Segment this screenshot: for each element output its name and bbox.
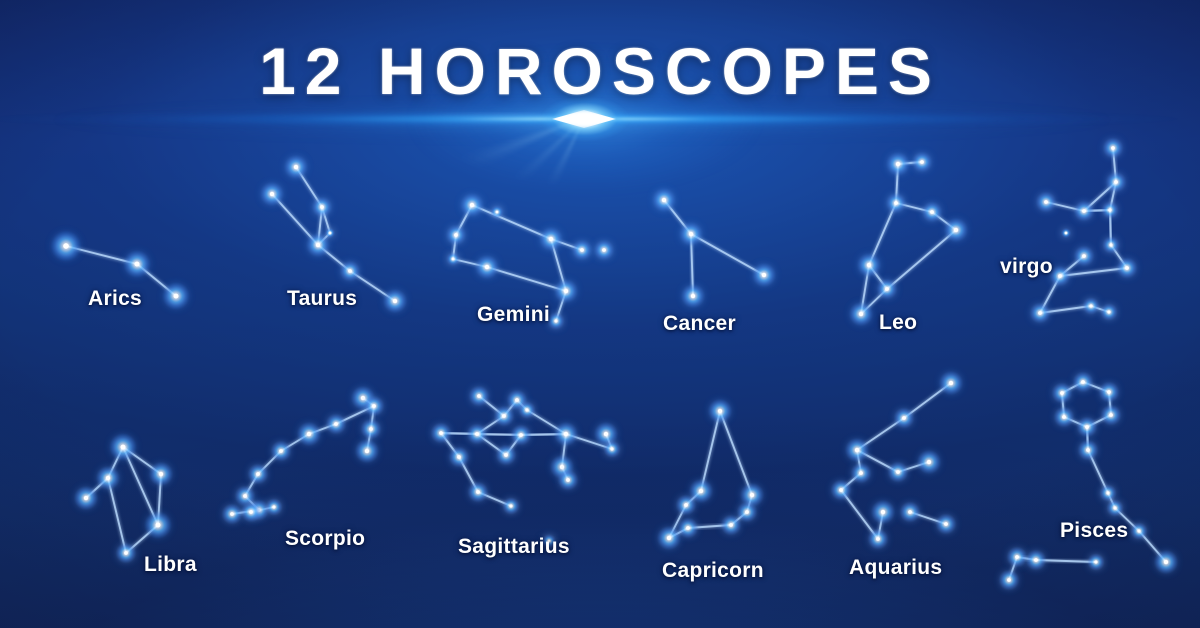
star-core — [908, 510, 912, 514]
star-core — [525, 408, 528, 411]
star-core — [662, 198, 666, 202]
label-leo: Leo — [879, 311, 917, 335]
star-core — [1038, 311, 1042, 315]
star-core — [1058, 274, 1062, 278]
star-core — [859, 471, 863, 475]
star-core — [1111, 146, 1115, 150]
star-core — [896, 162, 900, 166]
star-core — [270, 192, 274, 196]
star-core — [549, 237, 553, 241]
star-core — [439, 431, 443, 435]
label-scorpio: Scorpio — [285, 527, 365, 551]
star-core — [316, 243, 320, 247]
constellation-line — [720, 411, 752, 495]
star-core — [1094, 560, 1097, 563]
star-core — [272, 505, 275, 508]
constellation-pisces[interactable] — [999, 372, 1179, 591]
constellation-aquarius[interactable] — [831, 371, 964, 550]
star-core — [930, 210, 934, 214]
star-core — [762, 273, 766, 277]
star-core — [1062, 415, 1066, 419]
label-gemini: Gemini — [477, 303, 550, 327]
star-core — [566, 478, 570, 482]
star-core — [902, 416, 906, 420]
star-core — [1015, 555, 1019, 559]
star-core — [1089, 304, 1092, 307]
star-core — [515, 398, 519, 402]
page-title: 12 HOROSCOPES — [0, 38, 1200, 104]
star-core — [745, 510, 749, 514]
star-core — [249, 510, 253, 514]
star-core — [454, 233, 458, 237]
star-core — [689, 232, 693, 236]
star-core — [881, 510, 885, 514]
star-core — [602, 248, 606, 252]
star-core — [1007, 578, 1011, 582]
star-core — [686, 526, 690, 530]
star-core — [124, 551, 128, 555]
constellation-leo[interactable] — [849, 152, 969, 327]
star-core — [329, 232, 332, 235]
star-core — [63, 243, 69, 249]
star-core — [509, 504, 512, 507]
star-core — [279, 449, 283, 453]
label-aquarius: Aquarius — [849, 556, 942, 580]
constellation-virgo[interactable] — [1030, 138, 1138, 324]
star-core — [504, 453, 508, 457]
star-core — [855, 448, 859, 452]
label-libra: Libra — [144, 553, 197, 577]
star-core — [667, 536, 671, 540]
star-core — [1164, 560, 1168, 564]
star-core — [867, 263, 871, 267]
horoscope-poster: 12 HOROSCOPES AricsTaurusGeminiCancerLeo… — [0, 0, 1200, 628]
star-core — [159, 472, 163, 476]
star-core — [564, 289, 568, 293]
star-core — [452, 258, 455, 261]
star-core — [560, 465, 564, 469]
label-taurus: Taurus — [287, 287, 357, 311]
star-core — [610, 447, 613, 450]
star-core — [334, 422, 338, 426]
star-core — [564, 432, 568, 436]
star-core — [173, 293, 178, 298]
label-sagittarius: Sagittarius — [458, 535, 570, 559]
label-virgo: virgo — [1000, 255, 1053, 279]
constellation-line — [887, 230, 956, 289]
star-core — [361, 396, 365, 400]
star-core — [84, 496, 88, 500]
star-core — [457, 455, 461, 459]
star-core — [1044, 200, 1048, 204]
star-core — [954, 228, 958, 232]
star-core — [1082, 254, 1086, 258]
star-core — [894, 201, 898, 205]
constellation-line — [701, 411, 720, 491]
star-core — [896, 470, 900, 474]
star-core — [372, 404, 376, 408]
star-core — [1065, 232, 1068, 235]
star-core — [120, 444, 125, 449]
star-core — [475, 432, 479, 436]
star-core — [230, 512, 234, 516]
star-core — [365, 449, 369, 453]
star-core — [320, 205, 324, 209]
constellation-libra[interactable] — [74, 433, 174, 564]
star-core — [485, 265, 489, 269]
star-core — [927, 460, 931, 464]
star-core — [718, 409, 722, 413]
star-core — [839, 488, 843, 492]
star-core — [393, 299, 397, 303]
star-core — [256, 472, 260, 476]
star-core — [580, 248, 584, 252]
star-core — [750, 493, 754, 497]
constellation-capricorn[interactable] — [657, 399, 765, 551]
star-core — [684, 503, 688, 507]
star-core — [1109, 243, 1112, 246]
star-core — [691, 294, 695, 298]
star-core — [859, 312, 863, 316]
star-core — [1106, 491, 1109, 494]
star-core — [1085, 425, 1089, 429]
star-core — [477, 394, 481, 398]
star-core — [1125, 266, 1129, 270]
constellation-sagittarius[interactable] — [431, 386, 621, 549]
star-core — [1107, 310, 1110, 313]
star-core — [1107, 390, 1111, 394]
star-core — [699, 489, 703, 493]
star-core — [604, 432, 608, 436]
star-core — [949, 381, 953, 385]
star-core — [920, 160, 924, 164]
label-cancer: Cancer — [663, 312, 736, 336]
star-core — [554, 319, 557, 322]
star-core — [348, 269, 352, 273]
star-core — [106, 476, 110, 480]
star-core — [876, 537, 880, 541]
star-core — [1114, 180, 1118, 184]
star-core — [1108, 208, 1111, 211]
star-core — [470, 203, 474, 207]
star-core — [307, 432, 311, 436]
star-core — [243, 494, 247, 498]
star-core — [944, 522, 948, 526]
constellation-scorpio[interactable] — [222, 386, 385, 525]
star-core — [502, 414, 506, 418]
star-core — [729, 523, 733, 527]
constellation-cancer[interactable] — [652, 188, 777, 309]
star-core — [1113, 506, 1116, 509]
constellation-line — [691, 234, 764, 275]
star-core — [1034, 558, 1038, 562]
star-core — [155, 522, 160, 527]
label-pisces: Pisces — [1060, 519, 1128, 543]
star-core — [476, 490, 480, 494]
star-core — [1109, 413, 1113, 417]
label-aries: Arics — [88, 287, 142, 311]
star-core — [134, 261, 139, 266]
star-core — [885, 287, 889, 291]
star-core — [369, 427, 373, 431]
constellation-line — [472, 205, 551, 239]
label-capricorn: Capricorn — [662, 559, 764, 583]
star-core — [1137, 529, 1140, 532]
star-core — [1060, 391, 1064, 395]
star-core — [1086, 448, 1090, 452]
star-core — [1082, 209, 1086, 213]
constellation-line — [487, 267, 566, 291]
star-core — [294, 165, 298, 169]
star-core — [1081, 380, 1085, 384]
star-core — [496, 211, 499, 214]
star-core — [519, 433, 523, 437]
